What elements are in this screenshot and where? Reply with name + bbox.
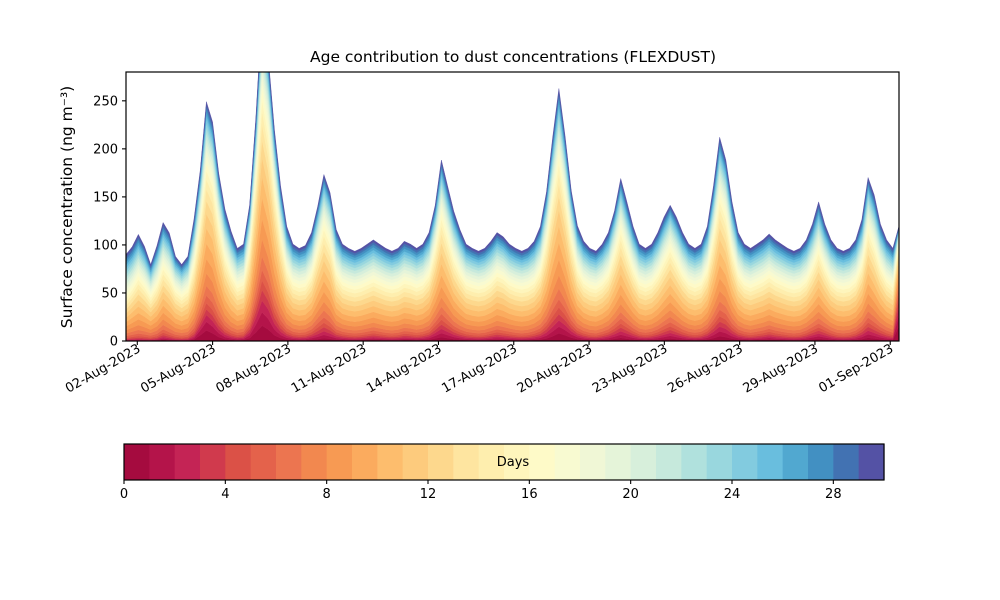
colorbar-band [681,444,707,480]
colorbar-tick-label: 8 [323,487,331,502]
colorbar-band [377,444,403,480]
colorbar-tick-label: 16 [521,487,538,502]
colorbar-band [757,444,783,480]
colorbar-band [225,444,251,480]
colorbar-band [656,444,682,480]
y-axis-label: Surface concentration (ng m⁻³) [58,86,76,328]
y-tick-label: 200 [93,142,118,157]
y-tick-label: 150 [93,190,118,205]
colorbar-band [580,444,606,480]
colorbar-band [453,444,479,480]
colorbar-band [529,444,555,480]
colorbar-tick-label: 24 [724,487,741,502]
colorbar-tick-label: 0 [120,487,128,502]
colorbar-band [605,444,631,480]
colorbar-tick-label: 20 [622,487,639,502]
colorbar-band [403,444,429,480]
colorbar-band [327,444,353,480]
colorbar-band [808,444,834,480]
colorbar-band [707,444,733,480]
colorbar-band [175,444,201,480]
colorbar-band [200,444,226,480]
y-tick-label: 100 [93,238,118,253]
y-tick-label: 50 [101,286,118,301]
colorbar-band [352,444,378,480]
y-tick-label: 0 [110,335,118,350]
colorbar-band [631,444,657,480]
figure-canvas: Age contribution to dust concentrations … [0,0,1000,600]
colorbar-band [783,444,809,480]
colorbar-band [276,444,302,480]
y-tick-label: 250 [93,94,118,109]
colorbar-band [251,444,277,480]
dust-age-stacked-area-figure: Age contribution to dust concentrations … [0,0,1000,600]
colorbar-band [428,444,454,480]
colorbar-tick-label: 4 [221,487,229,502]
colorbar-band [859,444,885,480]
colorbar-label: Days [497,455,530,470]
colorbar-band [149,444,175,480]
chart-title: Age contribution to dust concentrations … [310,48,716,66]
colorbar-band [732,444,758,480]
colorbar-band [555,444,581,480]
colorbar-band [124,444,150,480]
colorbar-band [301,444,327,480]
colorbar-tick-label: 28 [825,487,842,502]
colorbar-band [833,444,859,480]
colorbar-tick-label: 12 [420,487,437,502]
